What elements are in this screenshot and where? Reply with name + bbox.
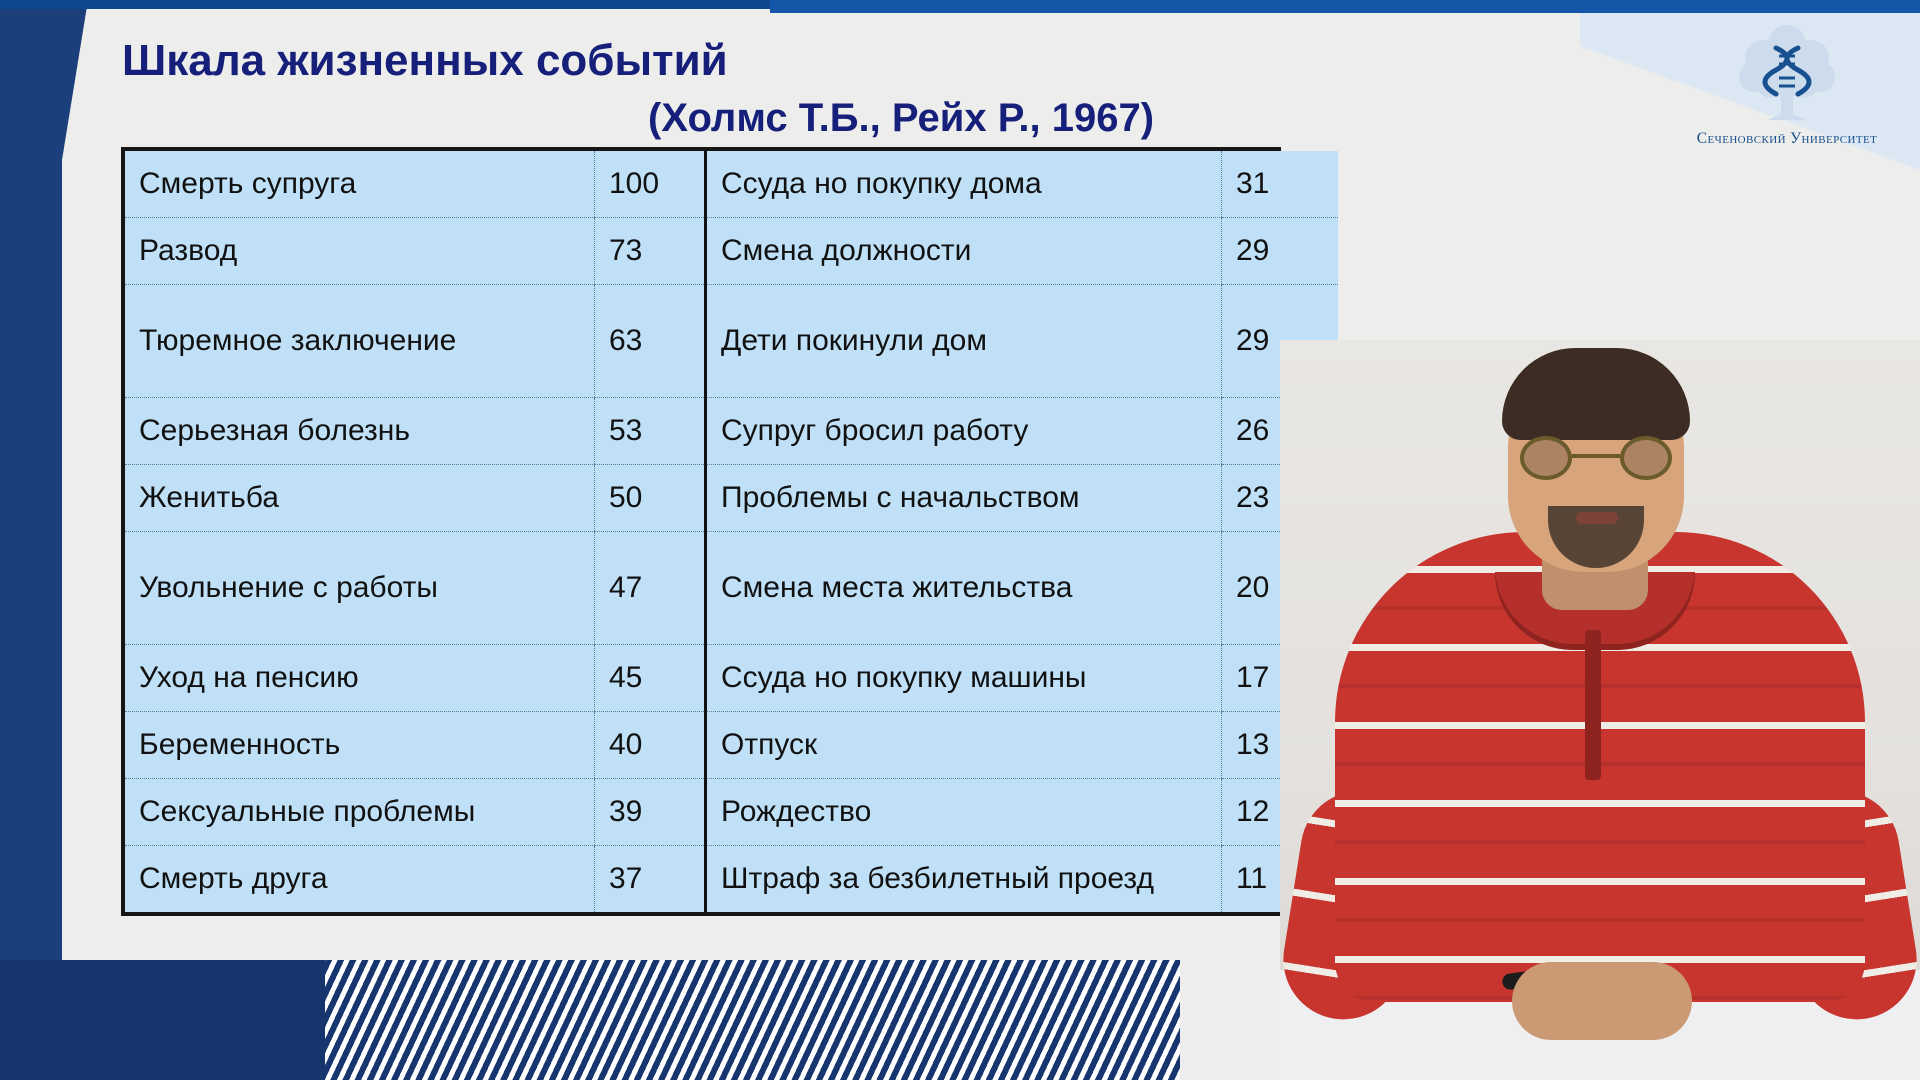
table-row: Уход на пенсию45Ссуда но покупку машины1… — [125, 645, 1338, 712]
left-value: 45 — [595, 645, 706, 712]
slide-stage: Сеченовский Университет Шкала жизненных … — [0, 0, 1920, 1080]
left-value: 47 — [595, 532, 706, 645]
glasses-icon — [1512, 436, 1682, 480]
glasses-lens-left — [1520, 436, 1572, 480]
left-value: 100 — [595, 151, 706, 218]
bottom-striped-decoration — [320, 960, 1180, 1080]
table-row: Развод73Смена должности29 — [125, 218, 1338, 285]
left-value: 53 — [595, 398, 706, 465]
mouth — [1576, 512, 1618, 524]
right-label: Ссуда но покупку машины — [706, 645, 1222, 712]
glasses-lens-right — [1620, 436, 1672, 480]
left-value: 73 — [595, 218, 706, 285]
right-label: Штраф за безбилетный проезд — [706, 846, 1222, 913]
left-value: 50 — [595, 465, 706, 532]
tree-dna-icon — [1732, 20, 1842, 128]
left-label: Беременность — [125, 712, 595, 779]
presenter-video — [1280, 340, 1920, 1080]
left-label: Сексуальные проблемы — [125, 779, 595, 846]
table-row: Смерть супруга100Ссуда но покупку дома31 — [125, 151, 1338, 218]
left-label: Смерть супруга — [125, 151, 595, 218]
bottom-left-navy-block — [0, 960, 325, 1080]
right-label: Проблемы с начальством — [706, 465, 1222, 532]
hands — [1512, 962, 1692, 1040]
left-label: Уход на пенсию — [125, 645, 595, 712]
left-label: Женитьба — [125, 465, 595, 532]
left-value: 37 — [595, 846, 706, 913]
left-value: 40 — [595, 712, 706, 779]
top-blue-strip-right — [770, 0, 1920, 13]
table-row: Смерть друга37Штраф за безбилетный проез… — [125, 846, 1338, 913]
left-label: Развод — [125, 218, 595, 285]
life-events-scale-table: Смерть супруга100Ссуда но покупку дома31… — [121, 147, 1281, 916]
table-row: Серьезная болезнь53Супруг бросил работу2… — [125, 398, 1338, 465]
right-label: Смена места жительства — [706, 532, 1222, 645]
left-label: Смерть друга — [125, 846, 595, 913]
top-blue-strip-left — [0, 0, 790, 9]
right-label: Рождество — [706, 779, 1222, 846]
right-value: 29 — [1222, 218, 1339, 285]
right-value: 31 — [1222, 151, 1339, 218]
table-row: Сексуальные проблемы39Рождество12 — [125, 779, 1338, 846]
left-label: Увольнение с работы — [125, 532, 595, 645]
right-label: Смена должности — [706, 218, 1222, 285]
sechenov-university-logo: Сеченовский Университет — [1672, 14, 1902, 174]
logo-label: Сеченовский Университет — [1672, 130, 1902, 148]
left-value: 39 — [595, 779, 706, 846]
table-row: Увольнение с работы47Смена места жительс… — [125, 532, 1338, 645]
slide-title: Шкала жизненных событий — [122, 36, 728, 86]
glasses-bridge — [1572, 454, 1620, 458]
left-label: Серьезная болезнь — [125, 398, 595, 465]
right-label: Супруг бросил работу — [706, 398, 1222, 465]
right-label: Отпуск — [706, 712, 1222, 779]
table-row: Женитьба50Проблемы с начальством23 — [125, 465, 1338, 532]
shirt-placket — [1585, 630, 1601, 780]
table-row: Тюремное заключение63Дети покинули дом29 — [125, 285, 1338, 398]
left-decorative-bar — [0, 0, 62, 1080]
right-label: Дети покинули дом — [706, 285, 1222, 398]
slide-subtitle: (Холмс Т.Б., Рейх Р., 1967) — [648, 96, 1154, 141]
left-value: 63 — [595, 285, 706, 398]
right-label: Ссуда но покупку дома — [706, 151, 1222, 218]
left-label: Тюремное заключение — [125, 285, 595, 398]
table-row: Беременность40Отпуск13 — [125, 712, 1338, 779]
